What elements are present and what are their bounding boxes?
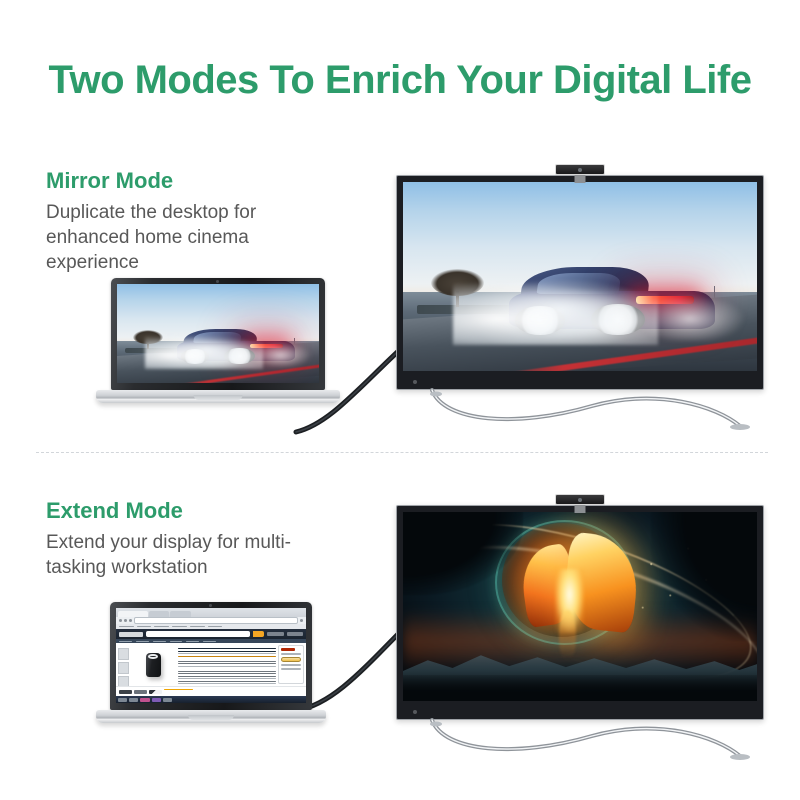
product-text-line	[178, 663, 276, 664]
section-heading-mirror: Mirror Mode	[46, 168, 173, 194]
rating-stars-icon	[164, 689, 194, 690]
product-description	[178, 645, 276, 684]
webcam-icon	[555, 164, 605, 175]
laptop-extend	[96, 602, 326, 732]
section-mirror-mode: Mirror Mode Duplicate the desktop for en…	[0, 150, 800, 450]
product-thumbnail[interactable]	[118, 648, 129, 660]
cart-icon[interactable]	[287, 632, 304, 636]
taskbar-app-icon[interactable]	[140, 698, 149, 702]
tv-brand-dot	[413, 710, 417, 714]
bookmark-item[interactable]	[119, 626, 134, 628]
laptop-screen-extend	[116, 608, 306, 703]
related-item-icon[interactable]	[149, 690, 162, 694]
section-extend-mode: Extend Mode Extend your display for mult…	[0, 480, 800, 780]
laptop-mirror	[96, 278, 340, 412]
laptop-base	[96, 390, 340, 403]
reload-icon[interactable]	[129, 619, 132, 622]
laptop-screen-mirror	[117, 284, 320, 383]
butterfly-planet-artwork	[403, 512, 757, 701]
webcam-icon	[555, 494, 605, 505]
laptop-front-notch	[188, 715, 234, 720]
taskbar-app-icon[interactable]	[163, 698, 172, 702]
product-text-line	[178, 653, 276, 654]
product-text-line	[178, 671, 276, 672]
related-item-icon[interactable]	[119, 690, 132, 694]
product-title-line	[178, 648, 276, 649]
subnav-item[interactable]	[170, 641, 183, 642]
tv-brand-dot	[413, 380, 417, 384]
laptop-lid	[110, 602, 312, 710]
product-text-line	[178, 673, 276, 674]
buybox-text-line	[281, 668, 301, 670]
url-input[interactable]	[134, 617, 298, 623]
taskbar-app-icon[interactable]	[129, 698, 138, 702]
laptop-lid	[111, 278, 326, 390]
forward-icon[interactable]	[124, 619, 127, 622]
subnav-item[interactable]	[203, 641, 216, 642]
product-device-photo	[146, 653, 161, 677]
tv-screen-mirror	[403, 182, 757, 371]
product-link-line[interactable]	[178, 656, 276, 657]
laptop-front-notch	[194, 395, 243, 400]
section-body-extend: Extend your display for multi-tasking wo…	[46, 530, 336, 580]
car-burnout-image	[403, 182, 757, 371]
product-text-line	[178, 681, 276, 682]
site-search-input[interactable]	[146, 631, 250, 636]
laptop-webcam-icon	[216, 280, 219, 283]
page-title: Two Modes To Enrich Your Digital Life	[0, 58, 800, 103]
section-body-mirror: Duplicate the desktop for enhanced home …	[46, 200, 336, 275]
subnav-item[interactable]	[186, 641, 199, 642]
site-header	[116, 629, 306, 639]
buybox-text-line	[281, 664, 301, 666]
product-hero-image[interactable]	[131, 645, 176, 684]
tv-stand	[396, 388, 764, 432]
add-to-cart-button[interactable]	[281, 657, 301, 662]
subnav-item[interactable]	[153, 641, 166, 642]
back-icon[interactable]	[119, 619, 122, 622]
related-items-strip[interactable]	[116, 686, 306, 696]
car-burnout-image-mirrored	[117, 284, 320, 383]
browser-address-bar[interactable]	[116, 617, 306, 625]
tv-mirror	[396, 164, 764, 414]
bookmark-item[interactable]	[172, 626, 187, 628]
product-thumbnail[interactable]	[118, 676, 129, 686]
product-text-line	[178, 661, 276, 662]
section-divider	[36, 452, 768, 453]
browser-product-page	[116, 608, 306, 703]
product-text-line	[178, 683, 276, 684]
os-taskbar[interactable]	[116, 696, 306, 703]
product-text-line	[178, 666, 276, 667]
bookmark-item[interactable]	[208, 626, 223, 628]
taskbar-app-icon[interactable]	[152, 698, 161, 702]
product-title-line	[178, 651, 276, 652]
tv-body	[396, 505, 764, 720]
laptop-base	[96, 710, 326, 723]
tv-screen-extend	[403, 512, 757, 701]
price-label	[281, 648, 295, 651]
buy-box[interactable]	[278, 645, 304, 684]
product-page-content	[116, 643, 306, 686]
taskbar-start-icon[interactable]	[118, 698, 127, 702]
search-icon[interactable]	[253, 631, 264, 636]
laptop-webcam-icon	[209, 604, 212, 607]
product-thumbnail-list[interactable]	[118, 645, 129, 684]
subnav-item[interactable]	[119, 641, 132, 642]
webcam-clip	[575, 504, 586, 513]
webcam-clip	[575, 174, 586, 183]
subnav-item[interactable]	[136, 641, 149, 642]
menu-icon[interactable]	[300, 619, 303, 622]
account-link[interactable]	[267, 632, 284, 636]
product-text-line	[178, 678, 276, 679]
related-item-icon[interactable]	[134, 690, 147, 694]
stock-status	[281, 653, 301, 655]
product-text-line	[178, 676, 276, 677]
tv-stand	[396, 718, 764, 762]
bookmark-item[interactable]	[154, 626, 169, 628]
site-logo[interactable]	[119, 632, 143, 637]
tv-extend	[396, 494, 764, 744]
browser-tab-bar[interactable]	[116, 608, 306, 617]
bookmark-item[interactable]	[137, 626, 152, 628]
section-heading-extend: Extend Mode	[46, 498, 183, 524]
bookmark-item[interactable]	[190, 626, 205, 628]
tv-body	[396, 175, 764, 390]
product-thumbnail[interactable]	[118, 662, 129, 674]
